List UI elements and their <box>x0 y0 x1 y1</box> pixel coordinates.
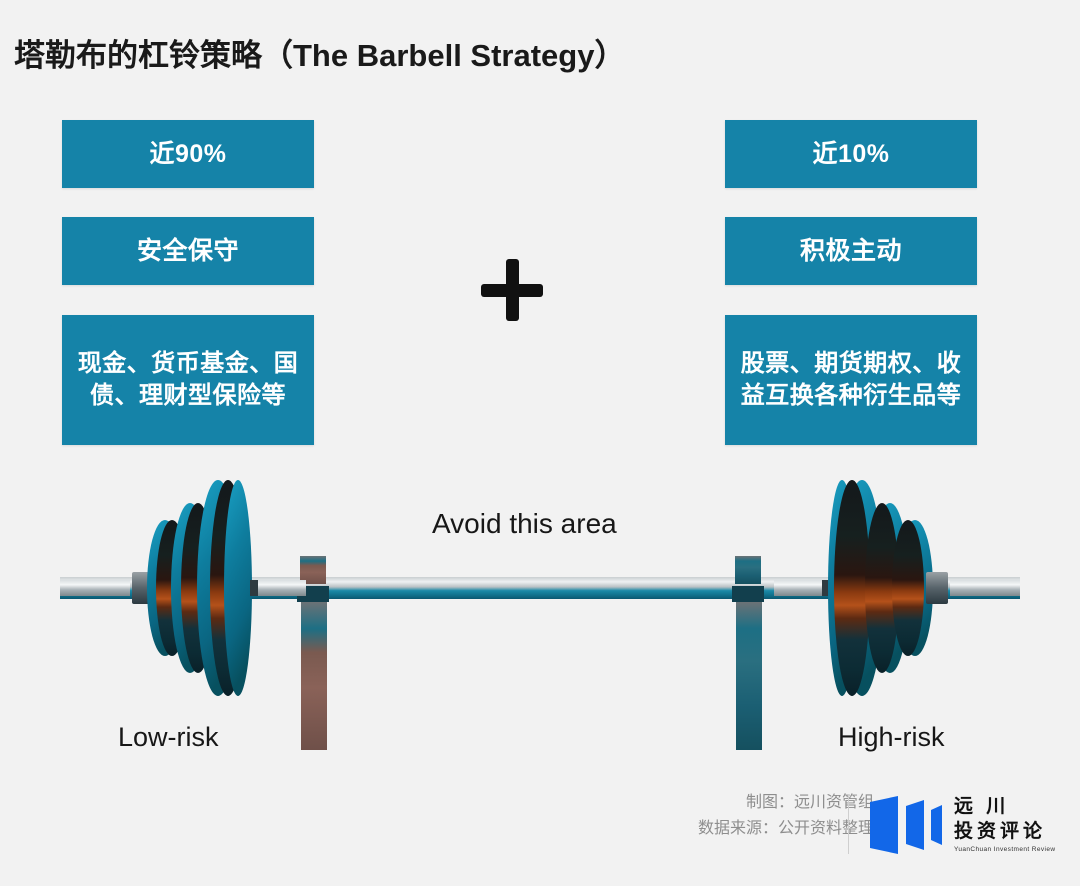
high-risk-allocation-percent: 近10% <box>725 120 977 188</box>
brand-logo: 远 川 投资评论 YuanChuan Investment Review <box>868 790 1068 860</box>
infographic-canvas: 塔勒布的杠铃策略（The Barbell Strategy） 近90% 安全保守… <box>0 0 1080 886</box>
logo-wordmark: 远 川 投资评论 YuanChuan Investment Review <box>954 794 1066 853</box>
low-risk-allocation-percent: 近90% <box>62 120 314 188</box>
low-risk-instruments: 现金、货币基金、国债、理财型保险等 <box>62 315 314 445</box>
weight-plates-left <box>132 480 306 696</box>
weight-plates-right <box>774 480 948 696</box>
logo-name-line2: 投资评论 <box>954 819 1066 844</box>
high-risk-instruments: 股票、期货期权、收益互换各种衍生品等 <box>725 315 977 445</box>
logo-name-en: YuanChuan Investment Review <box>954 846 1066 853</box>
low-risk-axis-label: Low-risk <box>118 722 219 753</box>
footer: 制图：远川资管组 数据来源：公开资料整理 远 川 投资评论 YuanChuan … <box>640 790 1070 870</box>
high-risk-style: 积极主动 <box>725 217 977 285</box>
bar-tip-right <box>950 580 1020 596</box>
high-risk-column: 近10% 积极主动 股票、期货期权、收益互换各种衍生品等 <box>725 120 977 445</box>
low-risk-style: 安全保守 <box>62 217 314 285</box>
logo-mark-icon <box>868 796 946 854</box>
logo-name-line1: 远 川 <box>954 794 1066 819</box>
high-risk-axis-label: High-risk <box>838 722 945 753</box>
footer-divider <box>848 794 849 854</box>
collar-right <box>926 572 948 604</box>
plus-icon <box>481 259 543 321</box>
bar-tip-left <box>60 580 130 596</box>
page-title: 塔勒布的杠铃策略（The Barbell Strategy） <box>14 30 625 75</box>
low-risk-column: 近90% 安全保守 现金、货币基金、国债、理财型保险等 <box>62 120 314 445</box>
